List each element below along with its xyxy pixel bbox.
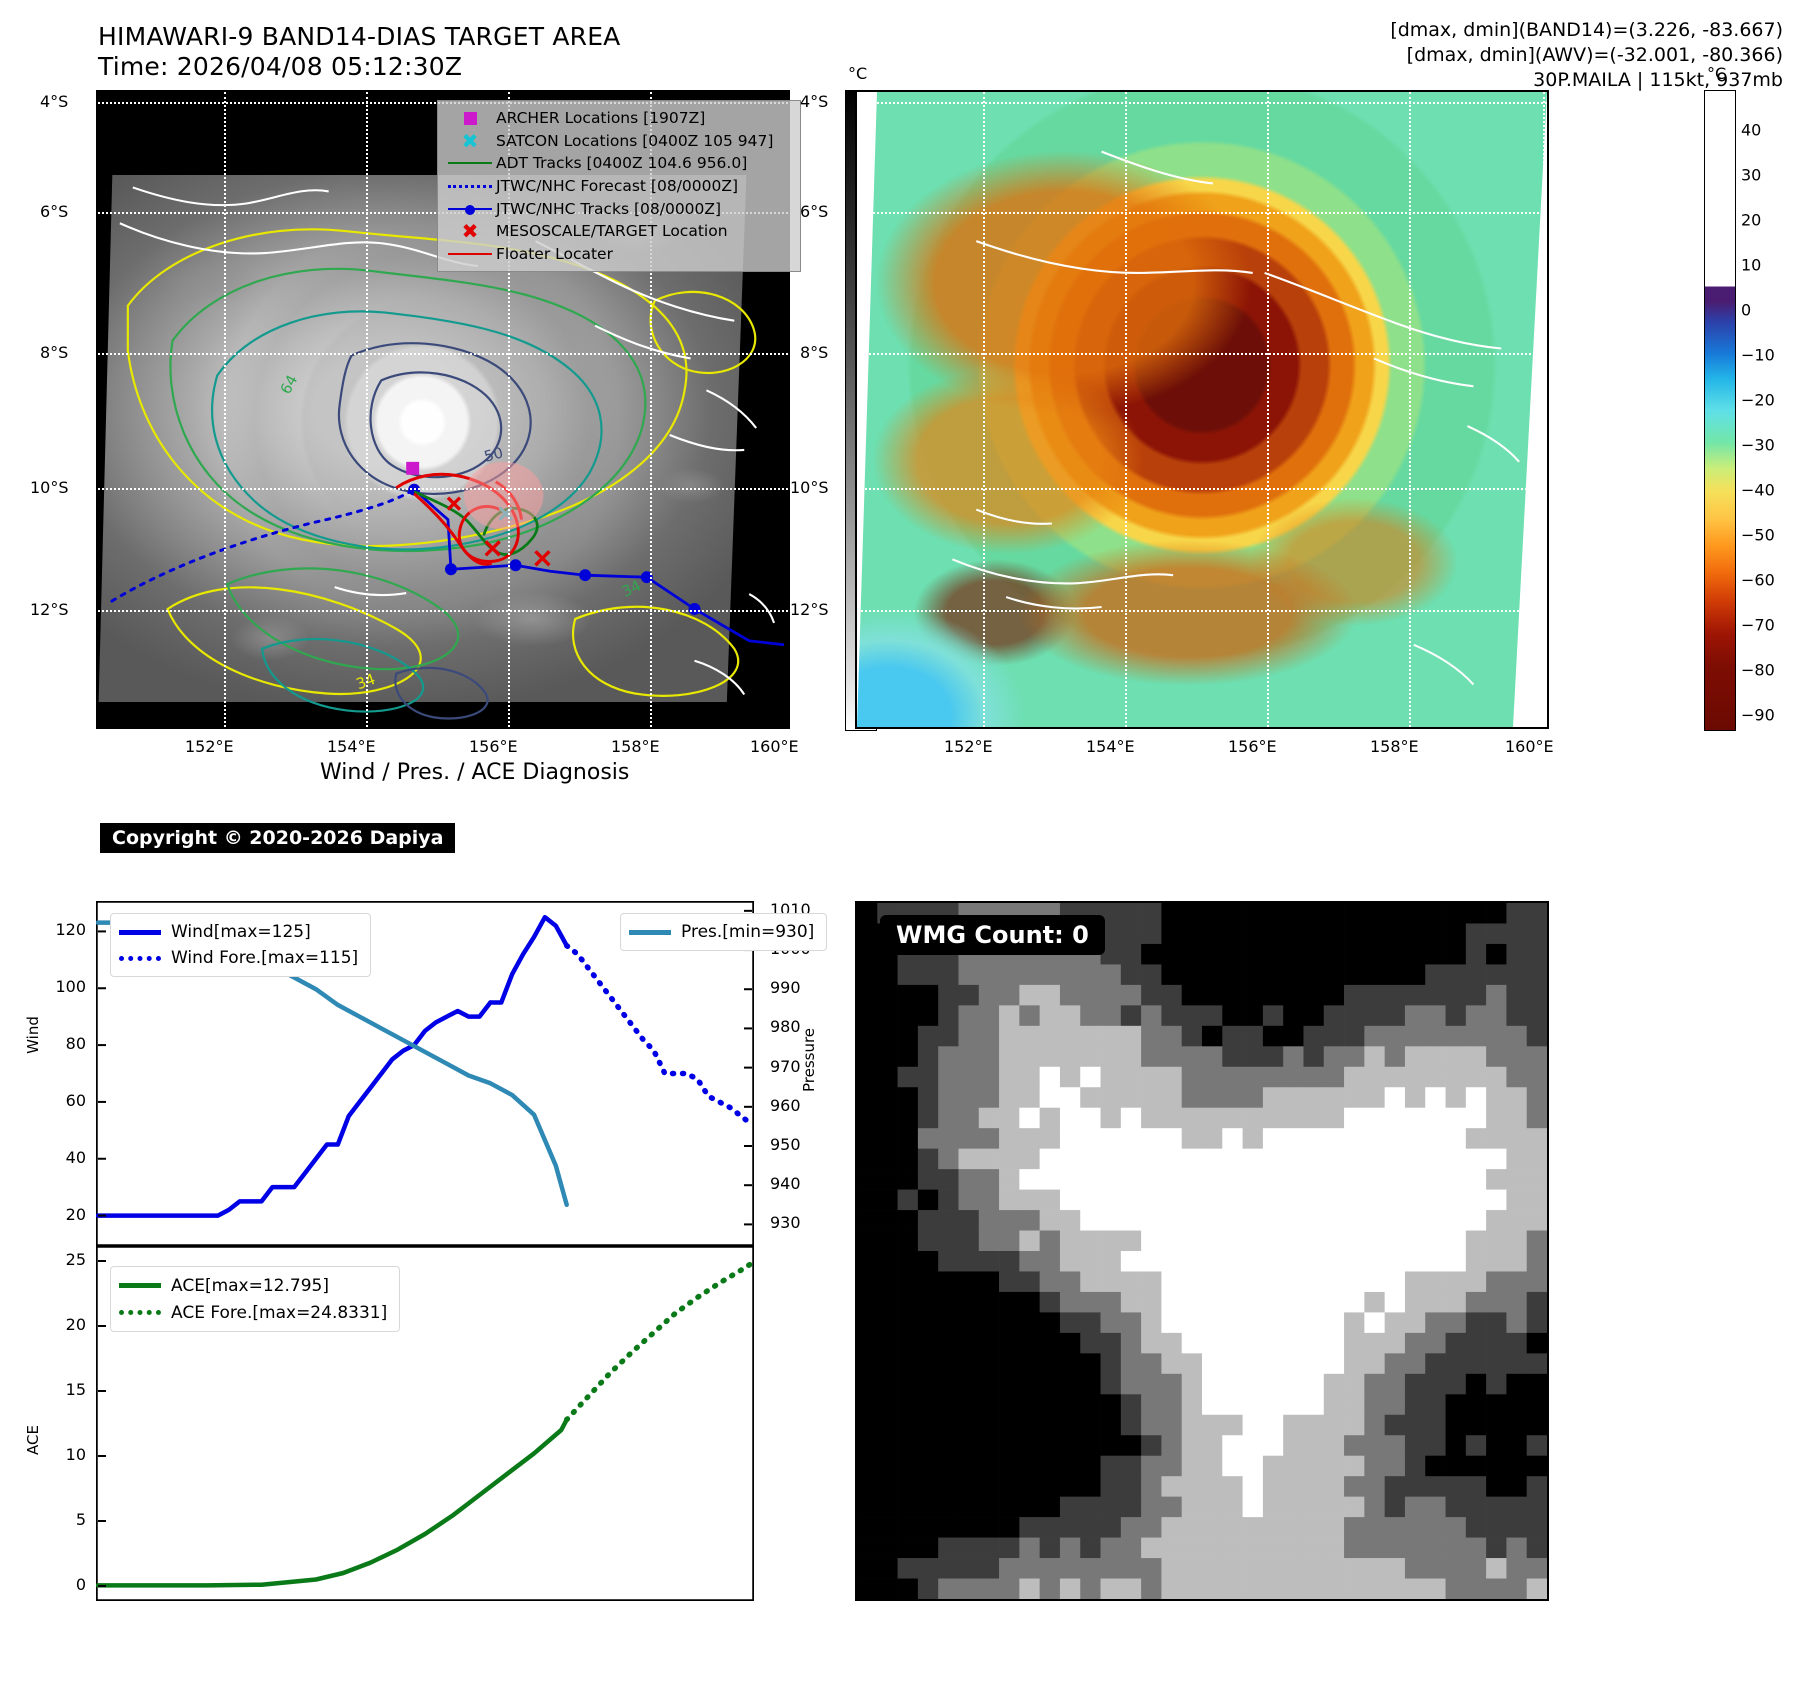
lon-tick-156E-right: 156°E: [1228, 737, 1277, 756]
graticule-lat-8S: [98, 353, 788, 355]
graticule-lon-156-right: [1267, 92, 1269, 727]
lat-tick-10S-right: 10°S: [790, 478, 829, 497]
graticule-lat-6S-right: [857, 212, 1547, 214]
page-title-line1: HIMAWARI-9 BAND14-DIAS TARGET AREA: [98, 22, 621, 51]
wmg-grayscale-map[interactable]: [855, 901, 1549, 1601]
wind-tick-40: 40: [66, 1148, 86, 1167]
lat-tick-4S-right: 4°S: [800, 92, 828, 111]
contour-label-64: 64: [277, 372, 302, 397]
pressure-y-ticks: 93094095096097098099010001010: [754, 901, 844, 1246]
pressure-tick-940: 940: [770, 1174, 801, 1193]
legend-item-floater[interactable]: Floater Locater: [444, 243, 792, 266]
legend-item-wind[interactable]: Wind[max=125]: [119, 919, 358, 945]
lon-tick-158E: 158°E: [611, 737, 660, 756]
wind-legend: Wind[max=125] Wind Fore.[max=115]: [110, 913, 371, 977]
legend-item-ace[interactable]: ACE[max=12.795]: [119, 1272, 387, 1299]
red-solid-line-icon: [444, 253, 496, 255]
lon-tick-158E-right: 158°E: [1370, 737, 1419, 756]
legend-label: JTWC/NHC Tracks [08/0000Z]: [496, 200, 721, 218]
green-solid-line-icon: [119, 1283, 161, 1288]
right-colorbar-ticks: 40 30 20 10 0 −10 −20 −30 −40 −50 −60 −7…: [1741, 90, 1797, 729]
target-area-shading: [464, 462, 544, 530]
lon-tick-160E-right: 160°E: [1505, 737, 1554, 756]
legend-item-jtwc-forecast[interactable]: JTWC/NHC Forecast [08/0000Z]: [444, 175, 792, 198]
legend-item-wind-forecast[interactable]: Wind Fore.[max=115]: [119, 945, 358, 971]
lat-tick-6S: 6°S: [40, 202, 68, 221]
dmax-dmin-awv: [dmax, dmin](AWV)=(-32.001, -80.366): [1143, 43, 1783, 68]
wind-tick-20: 20: [66, 1205, 86, 1224]
legend-label: ACE Fore.[max=24.8331]: [171, 1303, 387, 1323]
pressure-tick-960: 960: [770, 1096, 801, 1115]
blue-dotted-line-icon: [119, 956, 161, 961]
page-title-line2: Time: 2026/04/08 05:12:30Z: [98, 52, 462, 81]
lon-tick-160E: 160°E: [750, 737, 799, 756]
blue-dotted-line-icon: [444, 185, 496, 188]
legend-label: SATCON Locations [0400Z 105 947]: [496, 132, 773, 150]
legend-item-adt[interactable]: ADT Tracks [0400Z 104.6 956.0]: [444, 152, 792, 175]
coastline-overlay-right: [857, 92, 1547, 727]
legend-label: Floater Locater: [496, 245, 613, 263]
lat-tick-8S: 8°S: [40, 343, 68, 362]
wind-tick-80: 80: [66, 1034, 86, 1053]
graticule-lat-12S: [98, 610, 788, 612]
graticule-lat-10S: [98, 488, 788, 490]
ace-tick-25: 25: [66, 1250, 86, 1269]
wind-tick-120: 120: [55, 920, 86, 939]
jtwc-observed-track: [408, 484, 784, 645]
legend-label: MESOSCALE/TARGET Location: [496, 222, 728, 240]
right-colorbar-unit: °C: [1707, 64, 1726, 83]
contour-label-34: 34: [619, 576, 644, 600]
red-x-marker-icon: ✖: [444, 223, 496, 239]
legend-label: ARCHER Locations [1907Z]: [496, 109, 705, 127]
legend-item-satcon[interactable]: ✖ SATCON Locations [0400Z 105 947]: [444, 130, 792, 153]
legend-item-archer[interactable]: ARCHER Locations [1907Z]: [444, 107, 792, 130]
pressure-legend: Pres.[min=930]: [620, 913, 827, 951]
ace-y-ticks: 0510152025: [0, 1246, 96, 1601]
legend-item-mesoscale[interactable]: ✖ MESOSCALE/TARGET Location: [444, 220, 792, 243]
teal-solid-line-icon: [629, 930, 671, 935]
right-colorbar-bd-enhanced: [1704, 90, 1736, 731]
legend-label: ACE[max=12.795]: [171, 1276, 329, 1296]
blue-line-dot-marker-icon: [444, 208, 496, 210]
ace-tick-15: 15: [66, 1380, 86, 1399]
lon-tick-152E-right: 152°E: [944, 737, 993, 756]
graticule-lat-4S-right: [857, 102, 1547, 104]
graticule-lon-158-right: [1409, 92, 1411, 727]
lat-tick-12S: 12°S: [30, 600, 69, 619]
lon-tick-154E-right: 154°E: [1086, 737, 1135, 756]
legend-label: ADT Tracks [0400Z 104.6 956.0]: [496, 154, 747, 172]
graticule-lon-154: [366, 92, 368, 727]
legend-label: JTWC/NHC Forecast [08/0000Z]: [496, 177, 738, 195]
archer-location-marker: [406, 462, 419, 475]
graticule-lat-8S-right: [857, 353, 1547, 355]
legend-item-ace-forecast[interactable]: ACE Fore.[max=24.8331]: [119, 1299, 387, 1326]
lat-tick-4S: 4°S: [40, 92, 68, 111]
lon-tick-152E: 152°E: [185, 737, 234, 756]
graticule-lon-160-right: [1543, 92, 1545, 727]
pressure-tick-990: 990: [770, 978, 801, 997]
lon-tick-156E: 156°E: [469, 737, 518, 756]
legend-label: Wind[max=125]: [171, 922, 311, 942]
ace-tick-0: 0: [76, 1575, 86, 1594]
pressure-tick-970: 970: [770, 1057, 801, 1076]
enhanced-ir-bd-map[interactable]: [855, 90, 1549, 729]
wmg-pixel-grid: [857, 903, 1547, 1599]
pressure-tick-980: 980: [770, 1017, 801, 1036]
ace-tick-10: 10: [66, 1445, 86, 1464]
ace-legend: ACE[max=12.795] ACE Fore.[max=24.8331]: [110, 1266, 400, 1332]
lon-tick-154E: 154°E: [327, 737, 376, 756]
green-dotted-line-icon: [119, 1310, 161, 1315]
lat-tick-8S-right: 8°S: [800, 343, 828, 362]
wind-tick-60: 60: [66, 1091, 86, 1110]
legend-item-jtwc-tracks[interactable]: JTWC/NHC Tracks [08/0000Z]: [444, 197, 792, 220]
pressure-tick-930: 930: [770, 1213, 801, 1232]
legend-label: Pres.[min=930]: [681, 922, 814, 942]
dmax-dmin-band14: [dmax, dmin](BAND14)=(3.226, -83.667): [1143, 18, 1783, 43]
map-legend: ARCHER Locations [1907Z] ✖ SATCON Locati…: [437, 100, 801, 272]
magenta-square-marker-icon: [444, 112, 496, 125]
lat-tick-10S: 10°S: [30, 478, 69, 497]
legend-label: Wind Fore.[max=115]: [171, 948, 358, 968]
legend-item-pressure[interactable]: Pres.[min=930]: [629, 919, 814, 945]
header-info-block: [dmax, dmin](BAND14)=(3.226, -83.667) [d…: [1143, 18, 1783, 93]
blue-solid-line-icon: [119, 930, 161, 935]
wmg-count-badge: WMG Count: 0: [880, 915, 1105, 955]
graticule-lon-154-right: [1125, 92, 1127, 727]
pressure-tick-950: 950: [770, 1135, 801, 1154]
graticule-lat-10S-right: [857, 488, 1547, 490]
graticule-lon-152: [224, 92, 226, 727]
cyan-x-marker-icon: ✖: [444, 133, 496, 149]
lat-tick-12S-right: 12°S: [790, 600, 829, 619]
green-solid-line-icon: [444, 162, 496, 164]
charts-section-title: Wind / Pres. / ACE Diagnosis: [320, 760, 629, 785]
left-colorbar-unit: °C: [848, 64, 867, 83]
graticule-lon-152-right: [983, 92, 985, 727]
wind-y-ticks: 20406080100120: [0, 901, 96, 1246]
copyright-badge: Copyright © 2020-2026 Dapiya: [100, 823, 455, 853]
lat-tick-6S-right: 6°S: [800, 202, 828, 221]
wind-tick-100: 100: [55, 977, 86, 996]
ace-tick-20: 20: [66, 1315, 86, 1334]
ace-tick-5: 5: [76, 1510, 86, 1529]
graticule-lat-12S-right: [857, 610, 1547, 612]
